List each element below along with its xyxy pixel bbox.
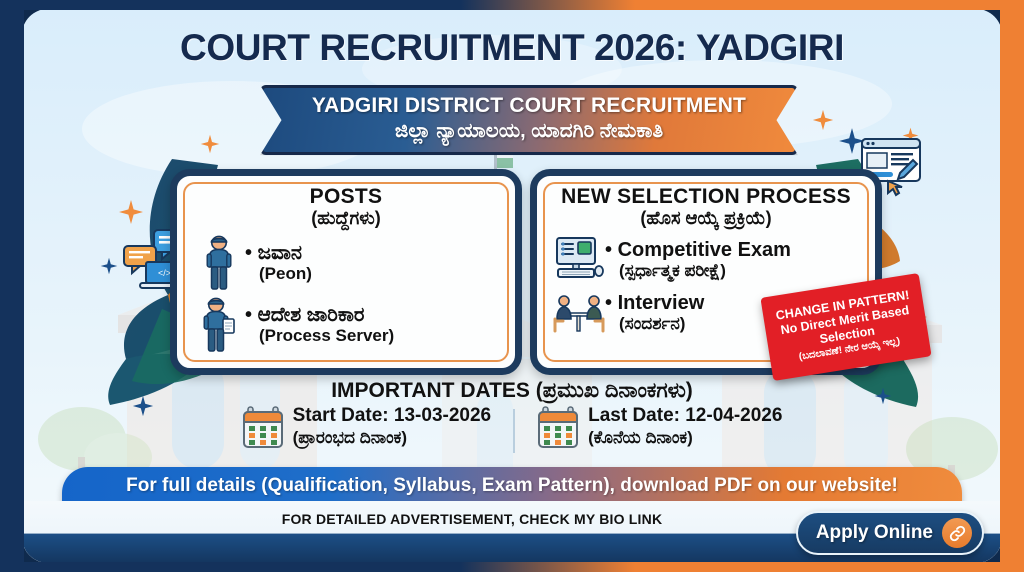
posts-list-item: • ಆದೇಶ ಜಾರಿಕಾರ (Process Server) [177,297,515,353]
person-process-server-icon [193,297,245,353]
interview-table-icon [553,291,605,335]
page-title: COURT RECRUITMENT 2026: YADGIRI [22,27,1002,69]
posts-list-item: • ಜವಾನ (Peon) [177,235,515,291]
subtitle-kannada: ಜಿಲ್ಲಾ ನ್ಯಾಯಾಲಯ, ಯಾದಗಿರಿ ನೇಮಕಾತಿ [277,119,781,144]
start-date-block: Start Date: 13-03-2026 (ಪ್ರಾರಂಭದ ದಿನಾಂಕ) [220,405,514,449]
sparkle-icon [100,257,118,275]
frame-border-left [0,0,24,572]
link-chain-icon [942,518,972,548]
start-date-label-kannada: (ಪ್ರಾರಂಭದ ದಿನಾಂಕ) [293,428,492,448]
posts-heading-english: POSTS [177,185,515,209]
posts-card-heading: POSTS (ಹುದ್ದೆಗಳು) [177,176,515,229]
last-date-label-kannada: (ಕೊನೆಯ ದಿನಾಂಕ) [588,428,782,448]
footer-note: FOR DETAILED ADVERTISEMENT, CHECK MY BIO… [22,511,922,527]
sparkle-icon [200,134,220,154]
poster-root: </> COURT RECRUITMENT 2026: YADGIRI YADG… [0,0,1024,572]
process-heading-english: NEW SELECTION PROCESS [537,185,875,209]
bullet-icon: • [605,239,612,261]
sparkle-icon [118,199,144,225]
calendar-icon [242,405,284,449]
post-item-label-english: (Process Server) [245,326,515,346]
posts-card: POSTS (ಹುದ್ದೆಗಳು) [170,169,522,375]
process-heading-kannada: (ಹೊಸ ಆಯ್ಕೆ ಪ್ರಕ್ರಿಯೆ) [537,208,875,229]
frame-border-top [0,0,1024,10]
important-dates-row: Start Date: 13-03-2026 (ಪ್ರಾರಂಭದ ದಿನಾಂಕ) [22,405,1002,453]
poster-canvas: </> COURT RECRUITMENT 2026: YADGIRI YADG… [22,9,1002,563]
last-date-value: Last Date: 12-04-2026 [588,405,782,428]
bullet-icon: • [245,242,252,264]
cta-line-english: For full details (Qualification, Syllabu… [80,474,944,498]
process-card-heading: NEW SELECTION PROCESS (ಹೊಸ ಆಯ್ಕೆ ಪ್ರಕ್ರಿ… [537,176,875,229]
start-date-value: Start Date: 13-03-2026 [293,405,492,428]
frame-border-right [1000,0,1024,572]
calendar-icon [537,405,579,449]
desktop-computer-icon [553,235,605,285]
apply-online-label: Apply Online [816,522,933,544]
apply-online-button[interactable]: Apply Online [796,511,984,555]
subtitle-english: YADGIRI DISTRICT COURT RECRUITMENT [277,94,781,118]
subtitle-banner: YADGIRI DISTRICT COURT RECRUITMENT ಜಿಲ್ಲ… [260,85,798,155]
bullet-icon: • [605,292,612,314]
person-peon-icon [193,235,245,291]
process-list-item: • Competitive Exam (ಸ್ಪರ್ಧಾತ್ಮಕ ಪರೀಕ್ಷೆ) [537,235,875,285]
post-item-label-english: (Peon) [245,264,515,284]
last-date-block: Last Date: 12-04-2026 (ಕೊನೆಯ ದಿನಾಂಕ) [515,405,804,449]
process-item-label-english: • Competitive Exam [605,239,875,261]
posts-heading-kannada: (ಹುದ್ದೆಗಳು) [177,208,515,229]
frame-border-bottom [0,562,1024,572]
important-dates-title: IMPORTANT DATES (ಪ್ರಮುಖ ದಿನಾಂಕಗಳು) [22,379,1002,403]
post-item-label-kannada: • ಜವಾನ [245,242,515,264]
post-item-label-kannada: • ಆದೇಶ ಜಾರಿಕಾರ [245,304,515,326]
bullet-icon: • [245,304,252,326]
sparkle-icon [812,109,834,131]
process-item-label-kannada: (ಸ್ಪರ್ಧಾತ್ಮಕ ಪರೀಕ್ಷೆ) [605,261,875,281]
